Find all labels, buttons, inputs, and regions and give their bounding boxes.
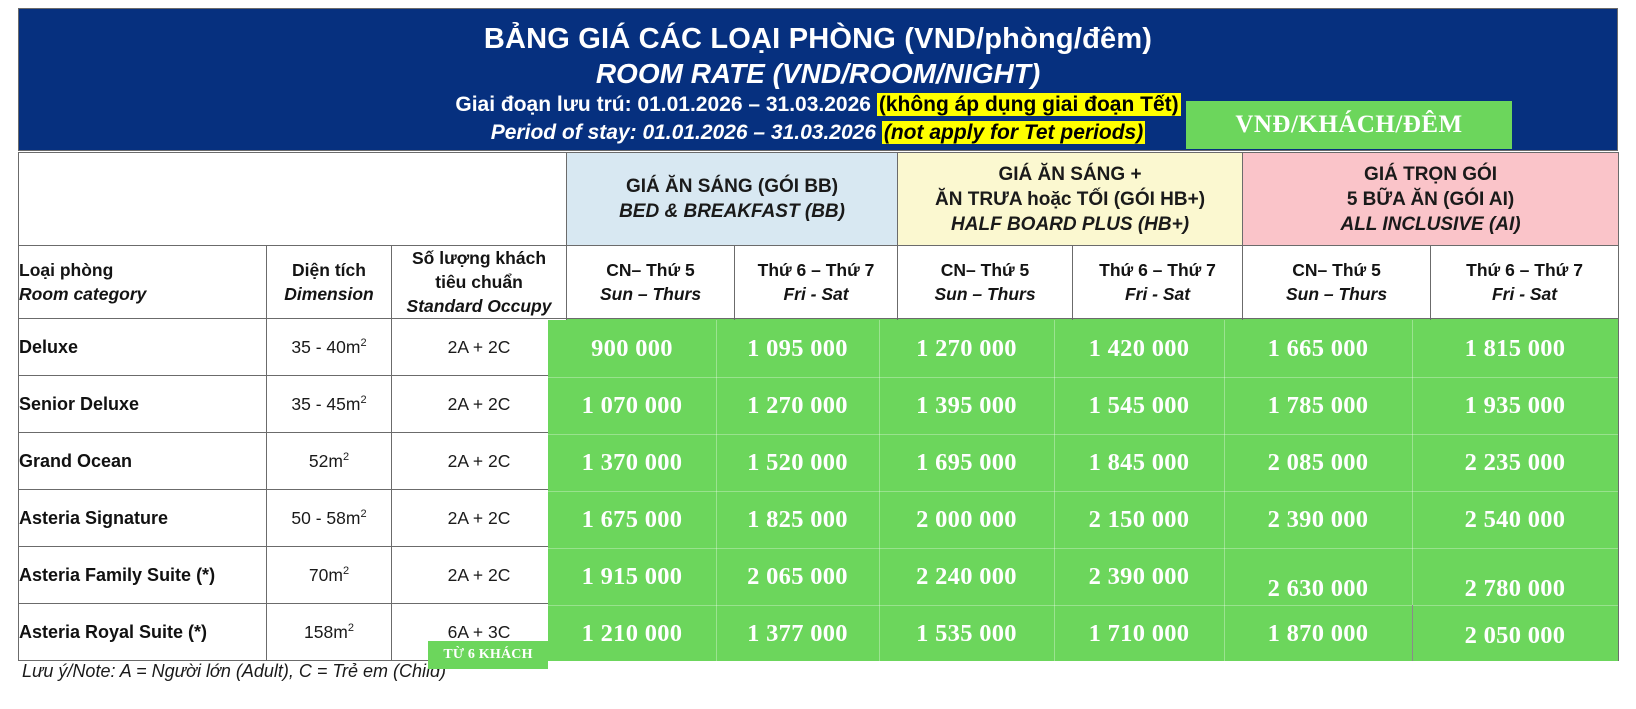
from-six-guests-label: TỪ 6 KHÁCH	[443, 647, 532, 663]
col-header-hb-weekday: CN– Thứ 5 Sun – Thurs	[898, 246, 1073, 319]
bb-weekday-vi: CN– Thứ 5	[567, 258, 734, 282]
price-value: 1 675 000	[548, 491, 716, 548]
price-value: 1 095 000	[716, 320, 879, 377]
price-value: 2 235 000	[1412, 434, 1618, 491]
banner-title-en: ROOM RATE (VND/ROOM/NIGHT)	[19, 57, 1617, 91]
room-name-cell: Grand Ocean	[19, 433, 267, 490]
price-value: 1 377 000	[716, 605, 879, 662]
room-name-cell: Deluxe	[19, 319, 267, 376]
price-value: 1 270 000	[716, 377, 879, 434]
ai-weekend-vi: Thứ 6 – Thứ 7	[1431, 258, 1618, 282]
dimension-cell: 35 - 40m2	[267, 319, 392, 376]
price-value: 1 210 000	[548, 605, 716, 662]
ai-weekday-vi: CN– Thứ 5	[1243, 258, 1430, 282]
from-six-guests-badge: TỪ 6 KHÁCH	[428, 641, 548, 669]
price-values-layer: 900 0001 095 0001 270 0001 420 0001 665 …	[548, 320, 1618, 661]
period-en-prefix: Period of stay: 01.01.2026 – 31.03.2026	[491, 121, 882, 144]
group-ai-vi-2: 5 BỮA ĂN (GÓI AI)	[1243, 187, 1618, 212]
col-header-dimension: Diện tích Dimension	[267, 246, 392, 319]
bb-weekend-vi: Thứ 6 – Thứ 7	[735, 258, 897, 282]
price-value: 2 390 000	[1054, 548, 1224, 605]
group-bb-en: BED & BREAKFAST (BB)	[567, 199, 897, 224]
col-header-bb-weekend: Thứ 6 – Thứ 7 Fri - Sat	[735, 246, 898, 319]
price-value: 2 240 000	[879, 548, 1054, 605]
price-value: 1 270 000	[879, 320, 1054, 377]
col-dim-vi: Diện tích	[267, 258, 391, 282]
col-header-bb-weekday: CN– Thứ 5 Sun – Thurs	[567, 246, 735, 319]
sub-header-row: Loại phòng Room category Diện tích Dimen…	[19, 246, 1619, 319]
dimension-cell: 52m2	[267, 433, 392, 490]
price-value: 2 050 000	[1412, 607, 1618, 664]
hb-weekend-en: Fri - Sat	[1073, 282, 1242, 306]
footnote: Lưu ý/Note: A = Người lớn (Adult), C = T…	[22, 661, 446, 682]
period-en-highlight: (not apply for Tet periods)	[882, 121, 1145, 144]
price-value: 1 695 000	[879, 434, 1054, 491]
group-bb-vi: GIÁ ĂN SÁNG (GÓI BB)	[567, 174, 897, 199]
col-header-room: Loại phòng Room category	[19, 246, 267, 319]
price-value: 1 395 000	[879, 377, 1054, 434]
vnd-per-guest-label: VNĐ/KHÁCH/ĐÊM	[1235, 111, 1462, 139]
dimension-cell: 35 - 45m2	[267, 376, 392, 433]
rate-sheet: BẢNG GIÁ CÁC LOẠI PHÒNG (VND/phòng/đêm) …	[0, 0, 1636, 709]
occupancy-cell: 2A + 2C	[392, 319, 567, 376]
col-header-ai-weekend: Thứ 6 – Thứ 7 Fri - Sat	[1431, 246, 1619, 319]
group-hb-vi-2: ĂN TRƯA hoặc TỐI (GÓI HB+)	[898, 187, 1242, 212]
ai-weekday-en: Sun – Thurs	[1243, 282, 1430, 306]
group-ai-vi-1: GIÁ TRỌN GÓI	[1243, 162, 1618, 187]
price-value: 1 545 000	[1054, 377, 1224, 434]
group-header-row: GIÁ ĂN SÁNG (GÓI BB) BED & BREAKFAST (BB…	[19, 153, 1619, 246]
col-dim-en: Dimension	[267, 282, 391, 306]
col-header-occupancy: Số lượng khách tiêu chuẩn Standard Occup…	[392, 246, 567, 319]
col-occ-en: Standard Occupy	[392, 294, 566, 318]
price-value: 2 150 000	[1054, 491, 1224, 548]
price-value: 2 390 000	[1224, 491, 1412, 548]
price-value: 1 815 000	[1412, 320, 1618, 377]
col-occ-vi-2: tiêu chuẩn	[392, 270, 566, 294]
col-header-ai-weekday: CN– Thứ 5 Sun – Thurs	[1243, 246, 1431, 319]
group-ai-en: ALL INCLUSIVE (AI)	[1243, 212, 1618, 237]
period-vi-highlight: (không áp dụng giai đoạn Tết)	[877, 93, 1181, 116]
price-value: 1 070 000	[548, 377, 716, 434]
col-room-vi: Loại phòng	[19, 258, 266, 282]
group-header-hb: GIÁ ĂN SÁNG + ĂN TRƯA hoặc TỐI (GÓI HB+)…	[898, 153, 1243, 246]
price-value: 1 825 000	[716, 491, 879, 548]
price-value: 1 915 000	[548, 548, 716, 605]
group-header-ai: GIÁ TRỌN GÓI 5 BỮA ĂN (GÓI AI) ALL INCLU…	[1243, 153, 1619, 246]
bb-weekend-en: Fri - Sat	[735, 282, 897, 306]
period-vi-prefix: Giai đoạn lưu trú: 01.01.2026 – 31.03.20…	[455, 93, 876, 116]
col-room-en: Room category	[19, 282, 266, 306]
occupancy-cell: 2A + 2C	[392, 376, 567, 433]
hb-weekday-vi: CN– Thứ 5	[898, 258, 1072, 282]
group-hb-vi-1: GIÁ ĂN SÁNG +	[898, 162, 1242, 187]
dimension-cell: 70m2	[267, 547, 392, 604]
price-value: 1 845 000	[1054, 434, 1224, 491]
hb-weekday-en: Sun – Thurs	[898, 282, 1072, 306]
price-value: 1 935 000	[1412, 377, 1618, 434]
price-value: 1 870 000	[1224, 605, 1412, 662]
room-name-cell: Senior Deluxe	[19, 376, 267, 433]
price-value: 1 420 000	[1054, 320, 1224, 377]
occupancy-cell: 2A + 2C	[392, 547, 567, 604]
room-name-cell: Asteria Royal Suite (*)	[19, 604, 267, 661]
group-header-blank	[19, 153, 567, 246]
ai-weekend-en: Fri - Sat	[1431, 282, 1618, 306]
hb-weekend-vi: Thứ 6 – Thứ 7	[1073, 258, 1242, 282]
group-header-bb: GIÁ ĂN SÁNG (GÓI BB) BED & BREAKFAST (BB…	[567, 153, 898, 246]
price-value: 1 665 000	[1224, 320, 1412, 377]
occupancy-cell: 2A + 2C	[392, 433, 567, 490]
dimension-cell: 50 - 58m2	[267, 490, 392, 547]
price-value: 1 535 000	[879, 605, 1054, 662]
price-value: 1 520 000	[716, 434, 879, 491]
price-value: 2 085 000	[1224, 434, 1412, 491]
room-name-cell: Asteria Signature	[19, 490, 267, 547]
col-header-hb-weekend: Thứ 6 – Thứ 7 Fri - Sat	[1073, 246, 1243, 319]
price-value: 2 000 000	[879, 491, 1054, 548]
price-value: 2 065 000	[716, 548, 879, 605]
price-value: 1 710 000	[1054, 605, 1224, 662]
bb-weekday-en: Sun – Thurs	[567, 282, 734, 306]
price-value: 900 000	[548, 320, 716, 377]
col-occ-vi-1: Số lượng khách	[392, 246, 566, 270]
group-hb-en: HALF BOARD PLUS (HB+)	[898, 212, 1242, 237]
banner-title-vi: BẢNG GIÁ CÁC LOẠI PHÒNG (VND/phòng/đêm)	[19, 21, 1617, 57]
occupancy-cell: 2A + 2C	[392, 490, 567, 547]
price-value: 2 540 000	[1412, 491, 1618, 548]
price-value: 1 785 000	[1224, 377, 1412, 434]
dimension-cell: 158m2	[267, 604, 392, 661]
vnd-per-guest-badge: VNĐ/KHÁCH/ĐÊM	[1186, 101, 1512, 149]
price-value: 1 370 000	[548, 434, 716, 491]
room-name-cell: Asteria Family Suite (*)	[19, 547, 267, 604]
